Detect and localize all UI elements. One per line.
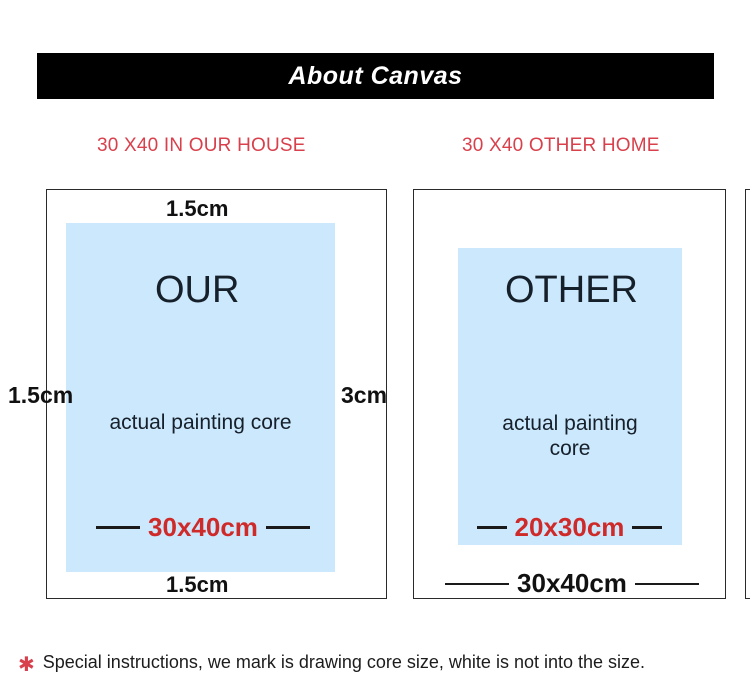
core-subtitle-other: actual painting core <box>470 411 670 461</box>
outer-measure-other: 30x40cm <box>432 568 712 599</box>
measure-rule-right-icon <box>266 526 310 529</box>
margin-right-our: 3cm <box>341 382 387 409</box>
frame-partial-next <box>745 189 750 599</box>
core-title-other: OTHER <box>505 269 638 312</box>
core-subtitle-our: actual painting core <box>66 410 335 435</box>
core-subtitle-other-line2: core <box>470 436 670 461</box>
page-title: About Canvas <box>288 62 462 91</box>
margin-left-our: 1.5cm <box>8 382 73 409</box>
core-measure-label-other: 20x30cm <box>507 512 633 543</box>
core-measure-label-our: 30x40cm <box>140 512 266 543</box>
measure-rule-left-icon <box>96 526 140 529</box>
asterisk-icon: ✱ <box>18 652 35 675</box>
header-banner: About Canvas <box>37 53 714 99</box>
panel-caption-other-home: 30 X40 OTHER HOME <box>462 135 660 157</box>
panel-caption-our-house: 30 X40 IN OUR HOUSE <box>97 135 306 157</box>
about-canvas-infographic: { "banner": { "title": "About Canvas", "… <box>0 0 750 700</box>
outer-measure-label-other: 30x40cm <box>509 568 635 599</box>
core-measure-other: 20x30cm <box>462 512 677 543</box>
measure-rule-right-icon <box>635 583 699 585</box>
core-measure-our: 30x40cm <box>78 512 328 543</box>
margin-bottom-our: 1.5cm <box>166 572 228 598</box>
footer-note-text: Special instructions, we mark is drawing… <box>43 652 645 673</box>
measure-rule-left-icon <box>445 583 509 585</box>
margin-top-our: 1.5cm <box>166 196 228 222</box>
measure-rule-left-icon <box>477 526 507 529</box>
core-title-our: OUR <box>155 269 239 312</box>
measure-rule-right-icon <box>632 526 662 529</box>
footer-note: ✱ Special instructions, we mark is drawi… <box>18 652 645 675</box>
core-subtitle-other-line1: actual painting <box>470 411 670 436</box>
